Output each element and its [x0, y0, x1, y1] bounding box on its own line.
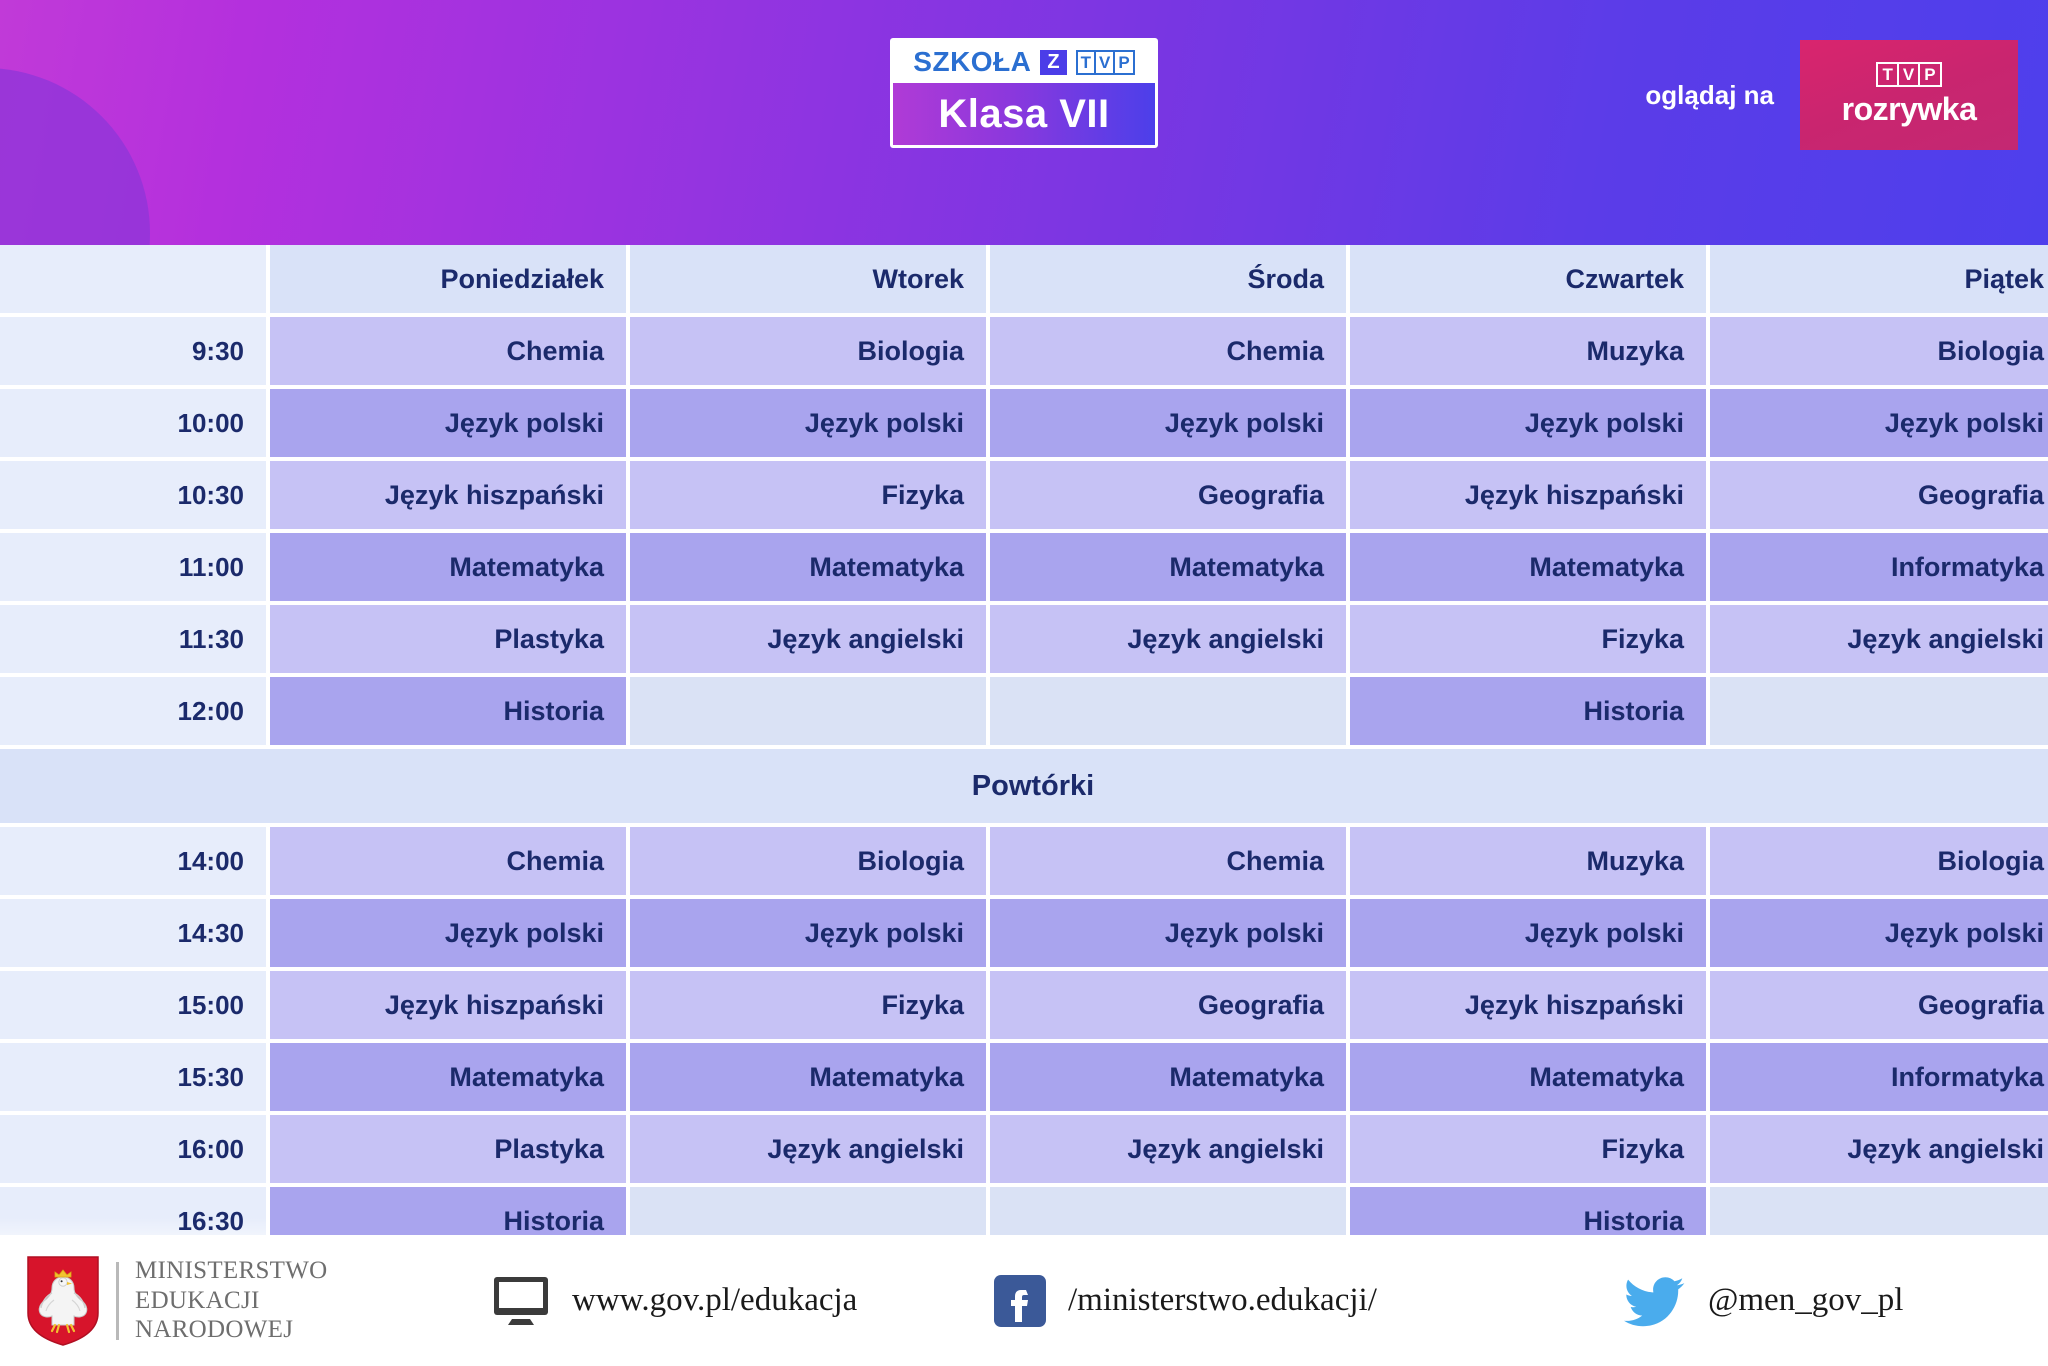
table-row: 9:30ChemiaBiologiaChemiaMuzykaBiologia	[0, 317, 2048, 385]
subject-cell[interactable]: Geografia	[990, 461, 1346, 529]
subject-cell[interactable]: Język polski	[990, 899, 1346, 967]
tvp-rozrywka-logo: T V P rozrywka	[1800, 40, 2018, 150]
watch-label: oglądaj na	[1645, 80, 1774, 111]
rozrywka-letter-p: P	[1920, 64, 1939, 85]
subject-cell[interactable]: Język polski	[1350, 899, 1706, 967]
ministry-divider	[116, 1262, 119, 1340]
schedule-section: Poniedziałek Wtorek Środa Czwartek Piąte…	[0, 245, 2048, 1235]
subject-cell[interactable]: Język angielski	[1710, 1115, 2048, 1183]
time-cell: 15:00	[0, 971, 266, 1039]
powtorki-separator-row: Powtórki	[0, 749, 2048, 823]
empty-cell	[1710, 677, 2048, 745]
subject-cell[interactable]: Biologia	[1710, 827, 2048, 895]
subject-cell[interactable]: Plastyka	[270, 605, 626, 673]
subject-cell[interactable]: Biologia	[1710, 317, 2048, 385]
table-row: 14:30Język polskiJęzyk polskiJęzyk polsk…	[0, 899, 2048, 967]
szkola-z-tvp-logo: SZKOŁA Z T V P Klasa VII	[890, 38, 1158, 148]
schedule-body: 9:30ChemiaBiologiaChemiaMuzykaBiologia10…	[0, 317, 2048, 1235]
ministry-line-2: EDUKACJI	[135, 1286, 327, 1316]
subject-cell[interactable]: Historia	[1350, 1187, 1706, 1235]
channel-name: rozrywka	[1842, 91, 1977, 128]
subject-cell[interactable]: Język angielski	[990, 605, 1346, 673]
facebook-icon	[994, 1275, 1046, 1327]
subject-cell[interactable]: Język angielski	[630, 1115, 986, 1183]
logo-bottom-bar: Klasa VII	[893, 83, 1155, 145]
subject-cell[interactable]: Język hiszpański	[270, 971, 626, 1039]
subject-cell[interactable]: Matematyka	[1350, 1043, 1706, 1111]
table-row: 16:30HistoriaHistoria	[0, 1187, 2048, 1235]
facebook-text: /ministerstwo.edukacji/	[1068, 1282, 1377, 1319]
subject-cell[interactable]: Biologia	[630, 317, 986, 385]
subject-cell[interactable]: Język angielski	[990, 1115, 1346, 1183]
time-cell: 10:00	[0, 389, 266, 457]
time-cell: 11:30	[0, 605, 266, 673]
subject-cell[interactable]: Chemia	[990, 827, 1346, 895]
time-cell: 15:30	[0, 1043, 266, 1111]
subject-cell[interactable]: Język polski	[270, 899, 626, 967]
subject-cell[interactable]: Język polski	[270, 389, 626, 457]
ministry-name: MINISTERSTWO EDUKACJI NARODOWEJ	[135, 1256, 327, 1345]
subject-cell[interactable]: Informatyka	[1710, 1043, 2048, 1111]
empty-cell	[630, 677, 986, 745]
subject-cell[interactable]: Historia	[270, 677, 626, 745]
time-cell: 16:00	[0, 1115, 266, 1183]
polish-eagle-crest-icon	[26, 1255, 100, 1347]
empty-cell	[990, 1187, 1346, 1235]
subject-cell[interactable]: Matematyka	[270, 1043, 626, 1111]
time-cell: 14:00	[0, 827, 266, 895]
subject-cell[interactable]: Geografia	[1710, 971, 2048, 1039]
day-header-tuesday: Wtorek	[630, 245, 986, 313]
subject-cell[interactable]: Język angielski	[630, 605, 986, 673]
subject-cell[interactable]: Historia	[1350, 677, 1706, 745]
tvp-letter-v: V	[1096, 52, 1115, 73]
subject-cell[interactable]: Plastyka	[270, 1115, 626, 1183]
table-row: 11:00MatematykaMatematykaMatematykaMatem…	[0, 533, 2048, 601]
subject-cell[interactable]: Matematyka	[1350, 533, 1706, 601]
day-header-thursday: Czwartek	[1350, 245, 1706, 313]
time-cell: 9:30	[0, 317, 266, 385]
corner-cell	[0, 245, 266, 313]
table-row: 10:30Język hiszpańskiFizykaGeografiaJęzy…	[0, 461, 2048, 529]
tvp-letter-p: P	[1115, 52, 1132, 73]
subject-cell[interactable]: Fizyka	[630, 461, 986, 529]
tvp-logo-icon: T V P	[1076, 50, 1135, 75]
subject-cell[interactable]: Język polski	[630, 899, 986, 967]
tvp-letter-t: T	[1078, 52, 1096, 73]
page-title: Klasa VII	[938, 92, 1109, 137]
subject-cell[interactable]: Matematyka	[630, 1043, 986, 1111]
subject-cell[interactable]: Język angielski	[1710, 605, 2048, 673]
powtorki-label: Powtórki	[0, 749, 2048, 823]
ministry-line-3: NARODOWEJ	[135, 1315, 327, 1345]
subject-cell[interactable]: Chemia	[270, 317, 626, 385]
day-header-wednesday: Środa	[990, 245, 1346, 313]
facebook-link[interactable]: /ministerstwo.edukacji/	[994, 1275, 1554, 1327]
website-text: www.gov.pl/edukacja	[572, 1282, 857, 1319]
table-header-row: Poniedziałek Wtorek Środa Czwartek Piąte…	[0, 245, 2048, 313]
twitter-link[interactable]: @men_gov_pl	[1624, 1275, 1903, 1327]
page-header: SZKOŁA Z T V P Klasa VII oglądaj na T V …	[0, 0, 2048, 245]
day-header-monday: Poniedziałek	[270, 245, 626, 313]
subject-cell[interactable]: Muzyka	[1350, 317, 1706, 385]
twitter-icon	[1624, 1275, 1686, 1327]
website-link[interactable]: www.gov.pl/edukacja	[492, 1275, 962, 1327]
rozrywka-letter-t: T	[1878, 64, 1898, 85]
subject-cell[interactable]: Muzyka	[1350, 827, 1706, 895]
subject-cell[interactable]: Informatyka	[1710, 533, 2048, 601]
subject-cell[interactable]: Historia	[270, 1187, 626, 1235]
subject-cell[interactable]: Język hiszpański	[1350, 461, 1706, 529]
subject-cell[interactable]: Matematyka	[630, 533, 986, 601]
table-row: 14:00ChemiaBiologiaChemiaMuzykaBiologia	[0, 827, 2048, 895]
schedule-table: Poniedziałek Wtorek Środa Czwartek Piąte…	[0, 245, 2048, 1235]
table-row: 16:00PlastykaJęzyk angielskiJęzyk angiel…	[0, 1115, 2048, 1183]
watch-on-block: oglądaj na T V P rozrywka	[1645, 40, 2018, 150]
subject-cell[interactable]: Chemia	[270, 827, 626, 895]
time-cell: 14:30	[0, 899, 266, 967]
time-cell: 12:00	[0, 677, 266, 745]
logo-z-text: Z	[1040, 50, 1066, 75]
subject-cell[interactable]: Język polski	[1710, 899, 2048, 967]
table-row: 11:30PlastykaJęzyk angielskiJęzyk angiel…	[0, 605, 2048, 673]
subject-cell[interactable]: Matematyka	[270, 533, 626, 601]
subject-cell[interactable]: Geografia	[990, 971, 1346, 1039]
subject-cell[interactable]: Biologia	[630, 827, 986, 895]
subject-cell[interactable]: Język hiszpański	[270, 461, 626, 529]
subject-cell[interactable]: Język polski	[1710, 389, 2048, 457]
empty-cell	[630, 1187, 986, 1235]
table-row: 10:00Język polskiJęzyk polskiJęzyk polsk…	[0, 389, 2048, 457]
empty-cell	[1710, 1187, 2048, 1235]
rozrywka-letter-v: V	[1899, 64, 1920, 85]
table-row: 15:00Język hiszpańskiFizykaGeografiaJęzy…	[0, 971, 2048, 1039]
twitter-text: @men_gov_pl	[1708, 1282, 1903, 1319]
time-cell: 16:30	[0, 1187, 266, 1235]
monitor-icon	[492, 1275, 550, 1327]
time-cell: 10:30	[0, 461, 266, 529]
page-footer: MINISTERSTWO EDUKACJI NARODOWEJ www.gov.…	[0, 1235, 2048, 1366]
subject-cell[interactable]: Język hiszpański	[1350, 971, 1706, 1039]
day-header-friday: Piątek	[1710, 245, 2048, 313]
subject-cell[interactable]: Język polski	[990, 389, 1346, 457]
subject-cell[interactable]: Geografia	[1710, 461, 2048, 529]
table-row: 12:00HistoriaHistoria	[0, 677, 2048, 745]
subject-cell[interactable]: Fizyka	[1350, 605, 1706, 673]
ministry-logo: MINISTERSTWO EDUKACJI NARODOWEJ	[26, 1255, 456, 1347]
subject-cell[interactable]: Język polski	[1350, 389, 1706, 457]
subject-cell[interactable]: Chemia	[990, 317, 1346, 385]
subject-cell[interactable]: Fizyka	[630, 971, 986, 1039]
logo-top-bar: SZKOŁA Z T V P	[893, 41, 1155, 83]
empty-cell	[990, 677, 1346, 745]
header-decorative-circle	[0, 68, 150, 245]
subject-cell[interactable]: Fizyka	[1350, 1115, 1706, 1183]
ministry-line-1: MINISTERSTWO	[135, 1256, 327, 1286]
subject-cell[interactable]: Matematyka	[990, 1043, 1346, 1111]
rozrywka-tvp-icon: T V P	[1876, 62, 1941, 87]
logo-szkola-text: SZKOŁA	[913, 46, 1031, 78]
subject-cell[interactable]: Język polski	[630, 389, 986, 457]
subject-cell[interactable]: Matematyka	[990, 533, 1346, 601]
table-row: 15:30MatematykaMatematykaMatematykaMatem…	[0, 1043, 2048, 1111]
time-cell: 11:00	[0, 533, 266, 601]
